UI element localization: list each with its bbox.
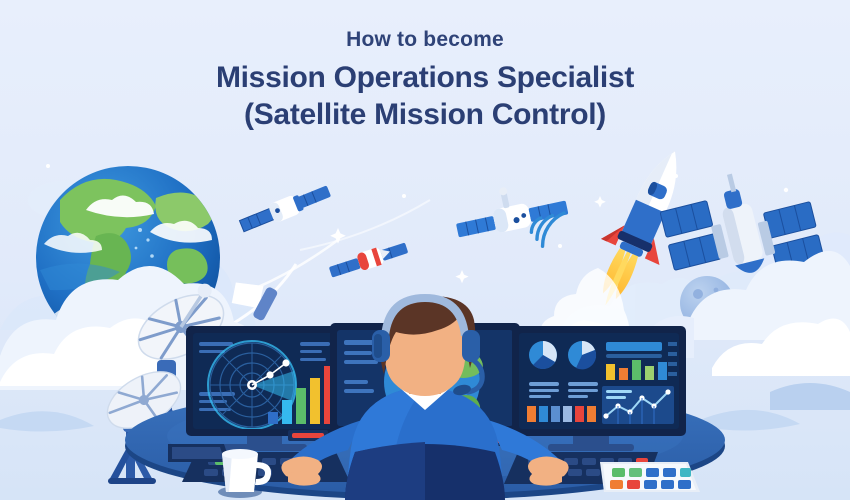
operator-chair	[345, 442, 505, 500]
control-keypad	[600, 462, 700, 492]
poster-canvas: How to become Mission Operations Special…	[0, 0, 850, 500]
pie-chart-1	[529, 341, 557, 369]
mission-control-illustration	[0, 0, 850, 500]
desk-tablet	[168, 444, 230, 462]
monitor-right-dashboard	[512, 326, 686, 451]
